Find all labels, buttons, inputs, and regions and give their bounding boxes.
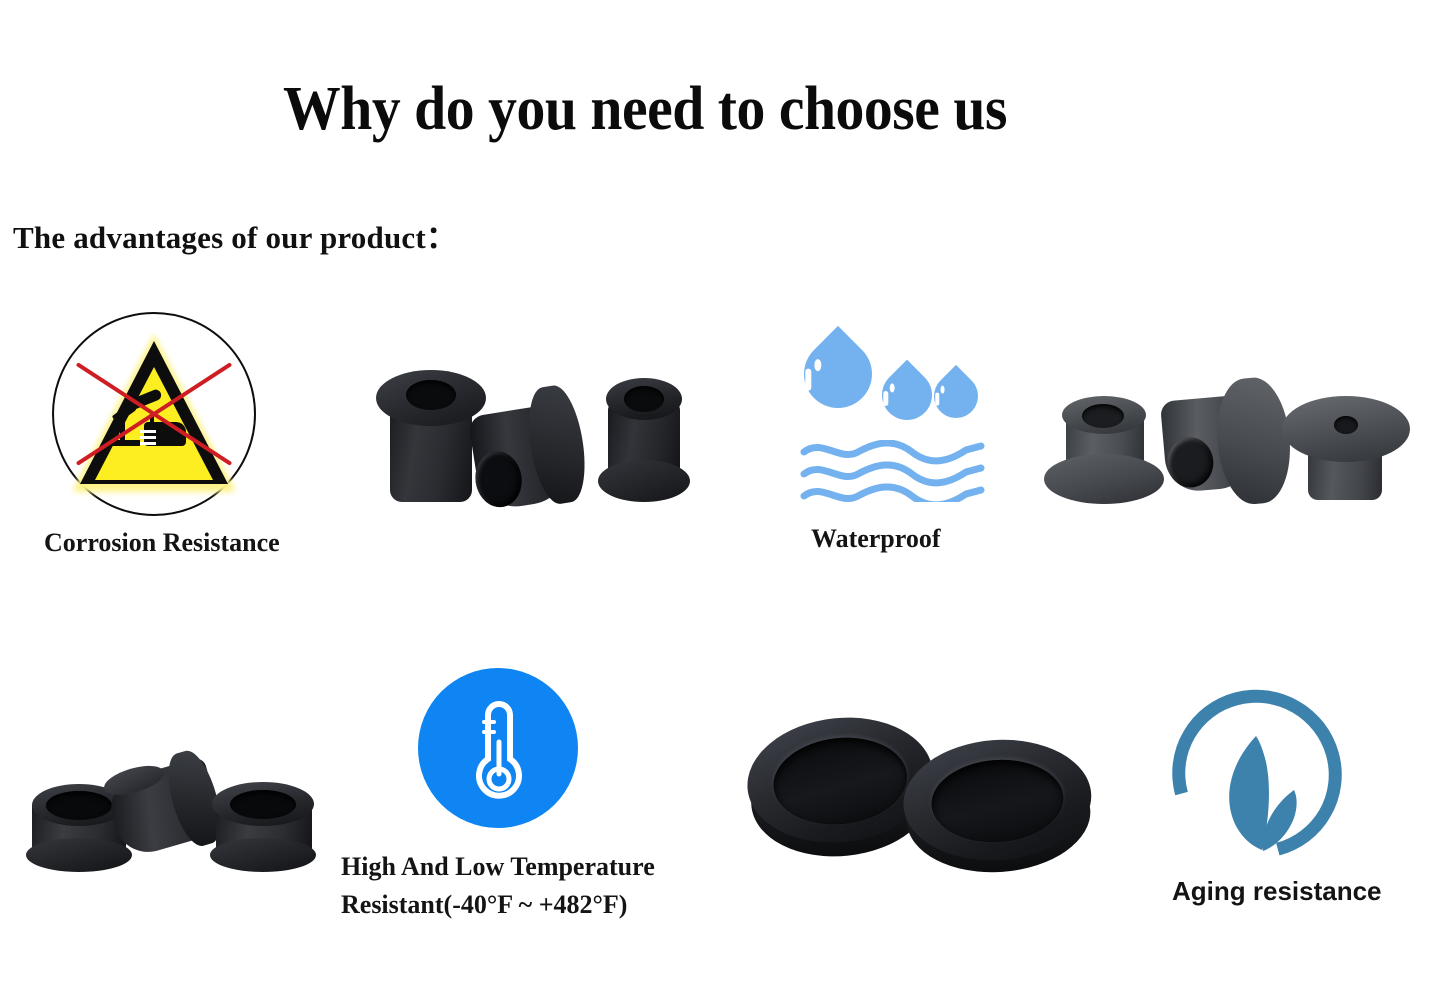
rubber-grommet	[461, 381, 600, 526]
water-droplet-icon	[790, 326, 886, 422]
product-photo-grommets-top-left	[360, 352, 700, 517]
product-photo-rubber-rings	[748, 712, 1092, 864]
infographic-page: Why do you need to choose us The advanta…	[0, 0, 1445, 983]
temperature-label-line1: High And Low Temperature	[341, 848, 655, 886]
temperature-label-line2: Resistant(-40°F ~ +482°F)	[341, 886, 655, 924]
rubber-grommet	[1044, 392, 1164, 510]
water-droplet-icon	[872, 360, 943, 431]
high-low-temperature-icon	[418, 668, 578, 828]
corrosion-resistance-icon	[52, 312, 256, 516]
thermometer-icon	[464, 694, 534, 804]
rubber-grommet	[208, 780, 318, 872]
water-waves-icon	[800, 440, 985, 502]
page-subtitle: The advantages of our product：	[13, 212, 457, 257]
aging-resistance-icon	[1168, 688, 1348, 863]
water-droplet-icon	[925, 365, 987, 427]
leaf-sprout-icon	[1210, 730, 1310, 854]
rubber-grommet	[1157, 374, 1302, 517]
rubber-grommet	[598, 372, 690, 507]
corrosion-resistance-label: Corrosion Resistance	[44, 528, 280, 558]
rubber-ring	[899, 734, 1096, 885]
waterproof-label: Waterproof	[811, 524, 941, 554]
product-photo-grommets-top-right	[1034, 378, 1414, 513]
waterproof-icon	[790, 332, 990, 502]
aging-resistance-label: Aging resistance	[1172, 876, 1382, 907]
high-low-temperature-label: High And Low Temperature Resistant(-40°F…	[341, 848, 655, 923]
product-photo-grommets-bottom-left	[22, 740, 322, 872]
page-title: Why do you need to choose us	[45, 74, 1245, 145]
rubber-grommet	[1282, 394, 1410, 510]
